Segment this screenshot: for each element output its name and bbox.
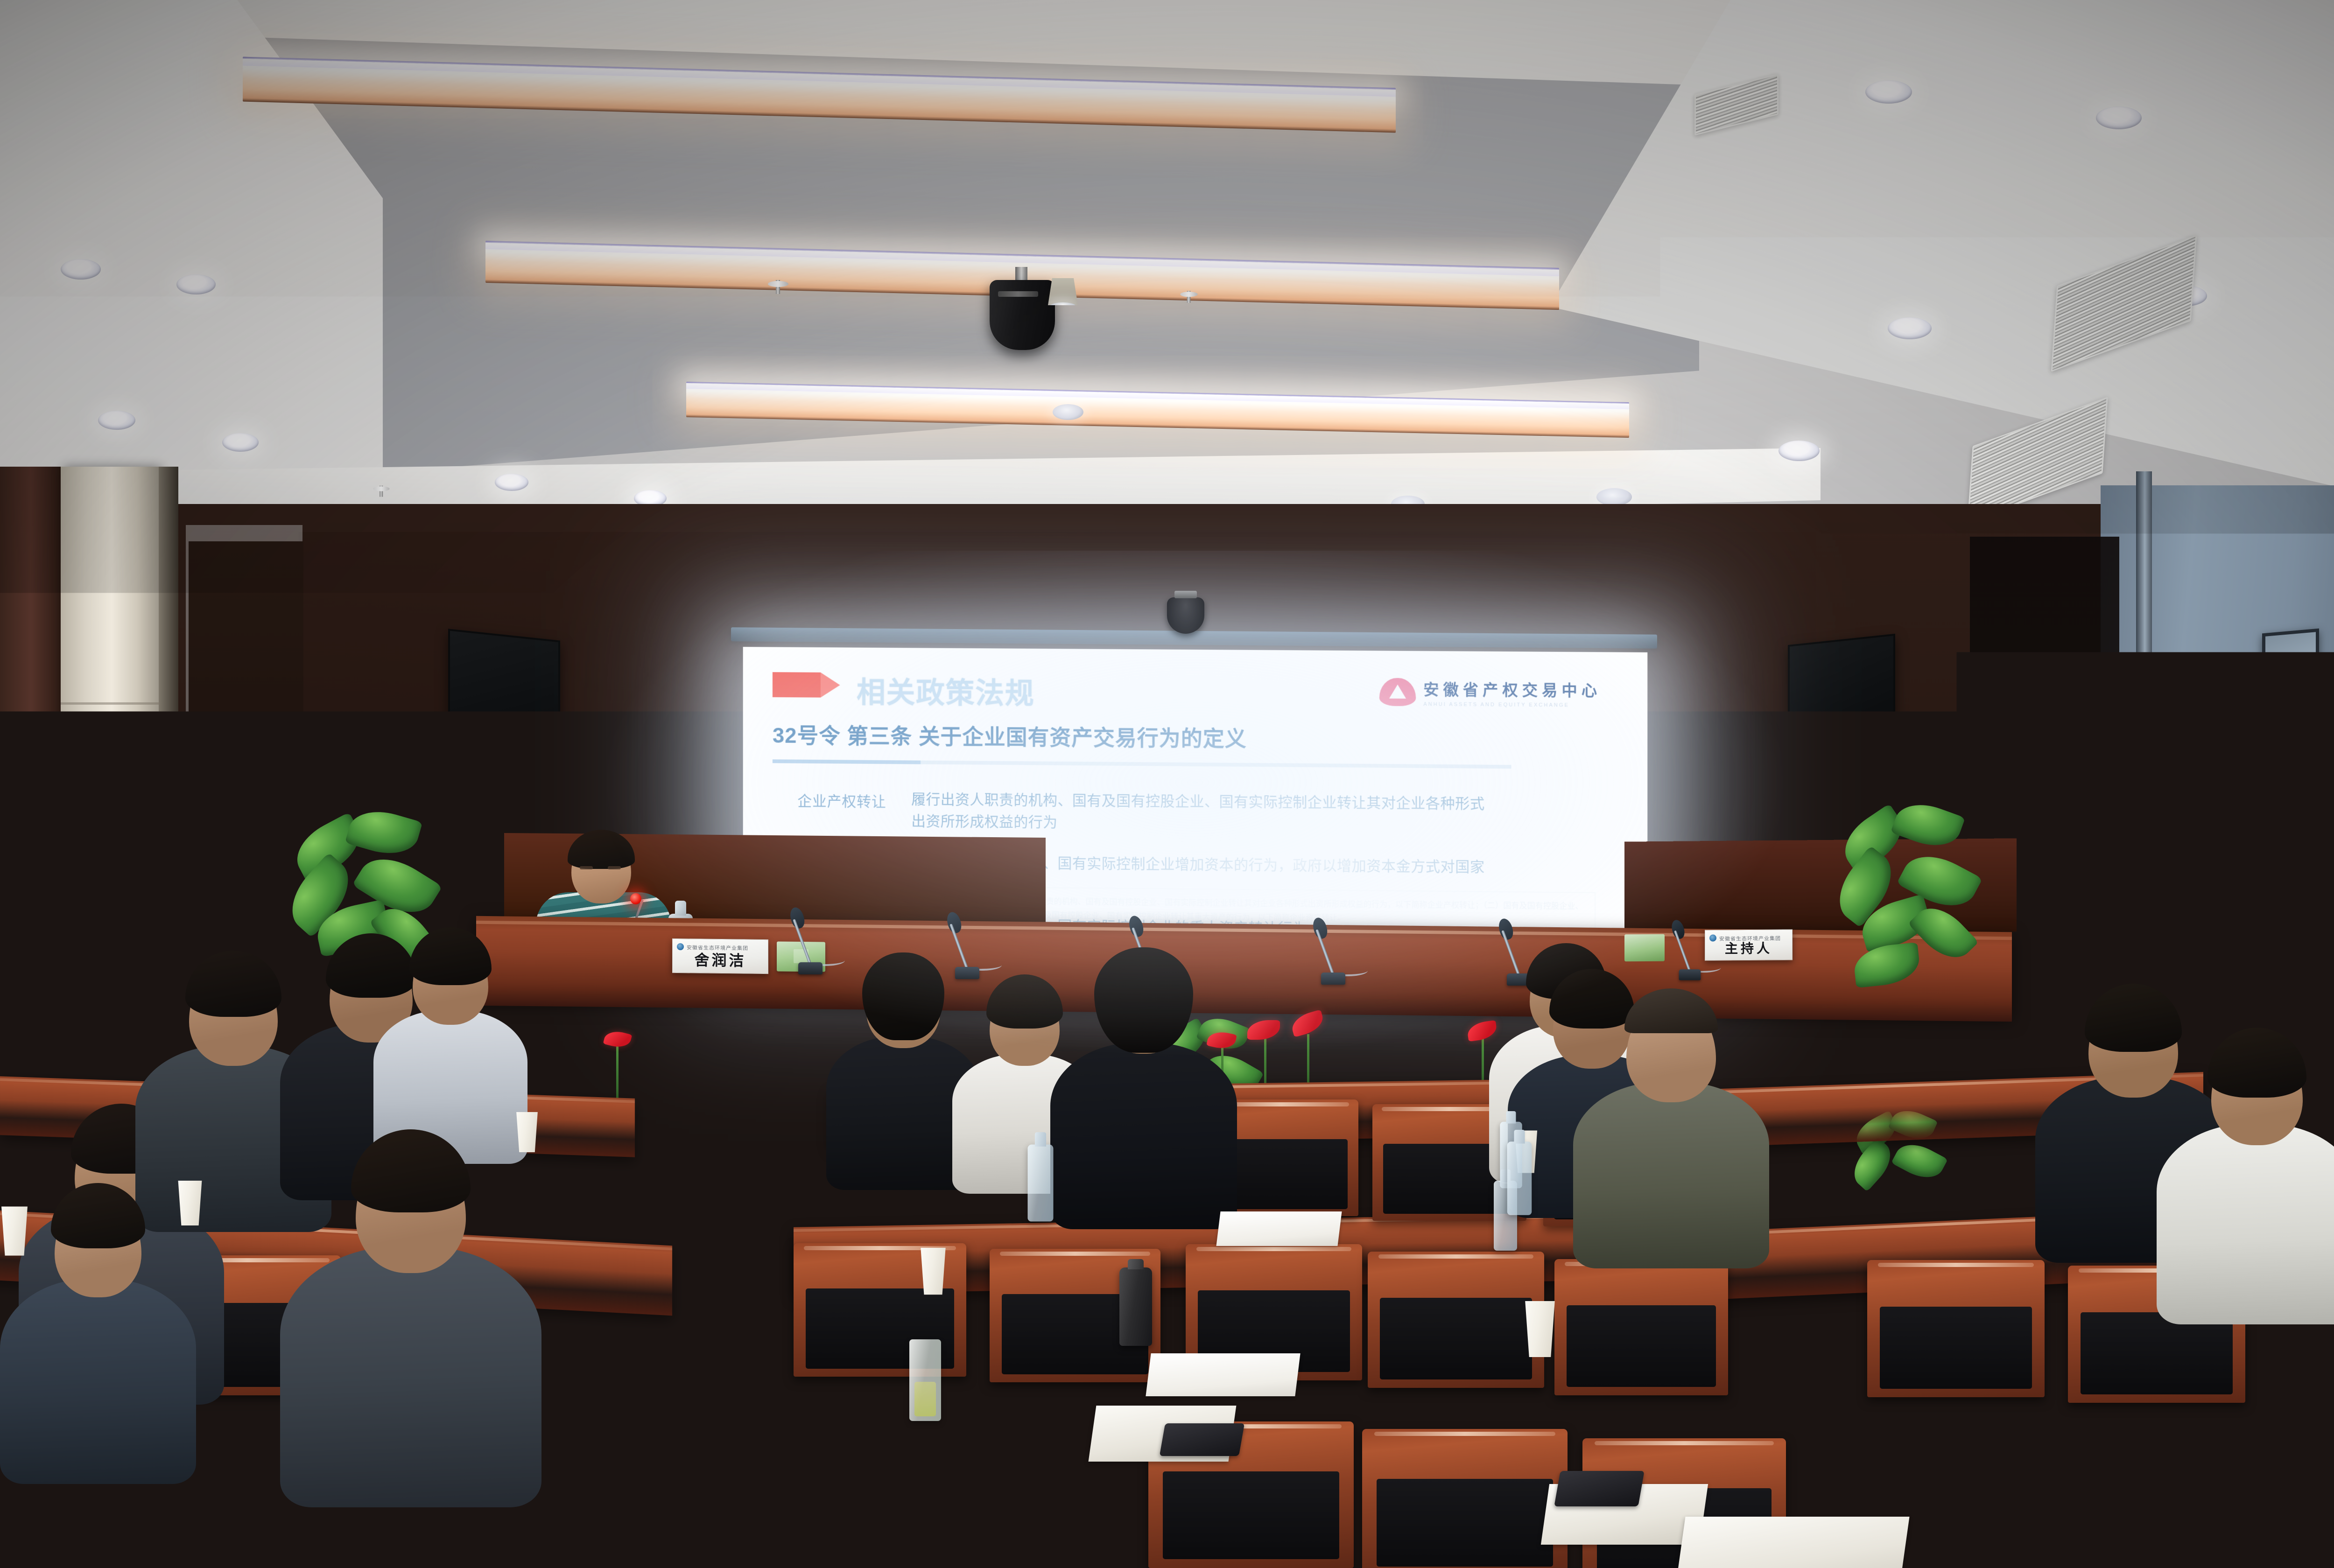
microphone-active-led-icon: [630, 893, 641, 904]
potted-plant: [1830, 803, 1998, 999]
downlight-icon: [176, 274, 216, 294]
attendee: [0, 1195, 196, 1484]
downlight-icon: [222, 433, 259, 452]
gooseneck-microphone: [1665, 917, 1715, 980]
definition-body: 履行出资人职责的机构、国有及国有控股企业、国有实际控制企业转让其对企业各种形式出…: [911, 789, 1490, 837]
flower-stem: [616, 1046, 619, 1100]
downlight-icon: [61, 259, 101, 280]
placard-name: 舍润洁: [673, 948, 768, 971]
attendee: [308, 1134, 859, 1568]
brand-mark-icon: [1379, 678, 1416, 707]
slide-header: 相关政策法规 安徽省产权交易中心 ANHUI ASSETS AND EQUITY…: [773, 665, 1618, 716]
brand-name-cn: 安徽省产权交易中心: [1423, 677, 1601, 701]
door-handle-icon[interactable]: [278, 737, 288, 764]
downlight-icon: [1596, 488, 1632, 506]
smartphone[interactable]: [1160, 1423, 1244, 1456]
downlight-icon: [1779, 441, 1820, 461]
placard-name: 主持人: [1705, 938, 1792, 957]
ceiling-dome-camera: [1167, 597, 1204, 634]
downlight-icon: [1865, 80, 1912, 104]
sprinkler-icon: [1178, 291, 1200, 309]
sprinkler-icon: [371, 486, 391, 503]
handout-papers: [1146, 1353, 1300, 1396]
downlight-icon: [495, 474, 528, 491]
wall-notice-frame: [2262, 629, 2319, 774]
sprinkler-icon: [766, 280, 791, 301]
placard-name: 刘正开: [1909, 1500, 2095, 1568]
attendee: [373, 936, 527, 1155]
header-arrow-icon: [821, 672, 840, 698]
gooseneck-microphone: [1305, 915, 1361, 985]
definition-row: 企业产权转让 履行出资人职责的机构、国有及国有控股企业、国有实际控制企业转让其对…: [773, 788, 1618, 838]
name-placard: 安徽省生态环境产业集团 主持人: [1705, 929, 1793, 960]
presenter-hair: [568, 830, 635, 869]
definition-term: 企业产权转让: [773, 788, 911, 811]
downlight-icon: [98, 411, 135, 430]
ceiling-projector: [990, 280, 1055, 350]
brand-logo: 安徽省产权交易中心 ANHUI ASSETS AND EQUITY EXCHAN…: [1379, 677, 1601, 708]
name-placard: 安徽省生态环境产业集团 刘正开: [1908, 1476, 2095, 1568]
brand-name-en: ANHUI ASSETS AND EQUITY EXCHANGE: [1423, 701, 1601, 708]
conference-room-scene: 相关政策法规 安徽省产权交易中心 ANHUI ASSETS AND EQUITY…: [0, 0, 2334, 1568]
ceiling-right-plane: [1550, 0, 2334, 495]
slide-header-label: 相关政策法规: [857, 669, 1035, 712]
downlight-icon: [1053, 404, 1083, 420]
handout-papers: [1216, 1211, 1342, 1246]
name-placard: 安徽省生态环境产业集团 舍润洁: [672, 938, 768, 974]
wall-speaker: [448, 629, 560, 780]
attendee: [1517, 1041, 1947, 1568]
slide-rule: [773, 759, 1618, 770]
rule-accent: [773, 759, 921, 764]
slide-heading: 32号令 第三条 关于企业国有资产交易行为的定义: [773, 719, 1618, 756]
wall-speaker: [1788, 634, 1895, 783]
header-accent-rect: [773, 672, 821, 697]
downlight-icon: [1888, 317, 1932, 339]
ceiling-spotlight-icon: [1048, 278, 1078, 305]
downlight-icon: [2096, 106, 2142, 129]
attendee: [1050, 958, 1237, 1219]
